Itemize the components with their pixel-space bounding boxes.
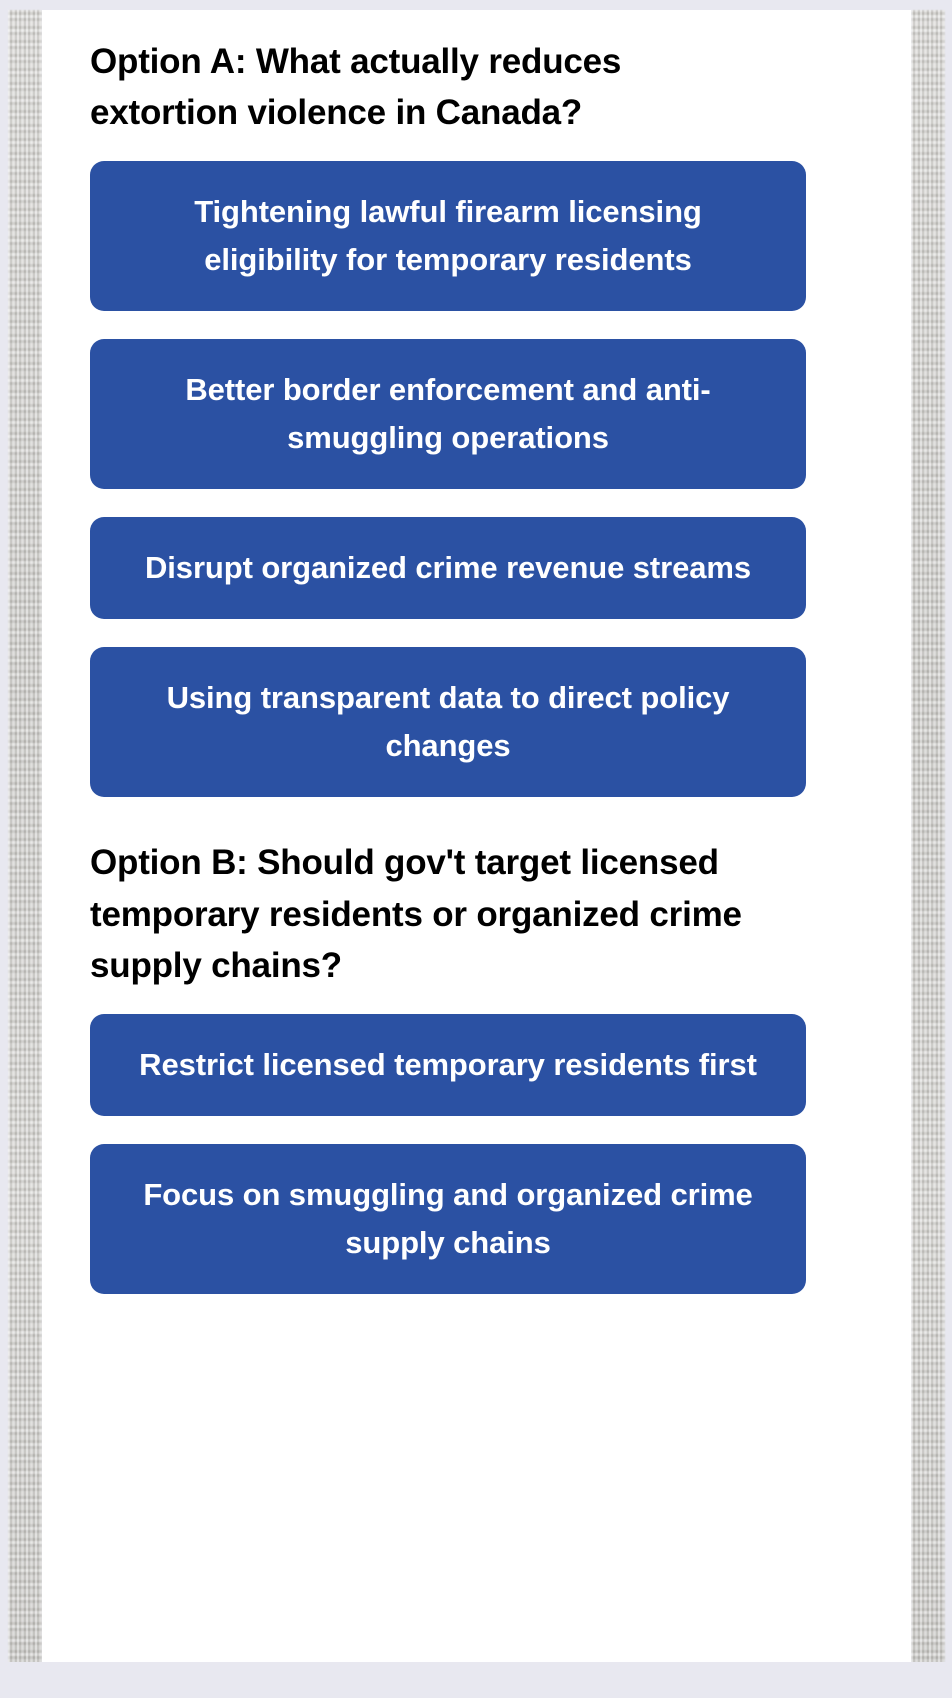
- option-a-choice-3[interactable]: Disrupt organized crime revenue streams: [90, 517, 806, 619]
- question-heading-b: Option B: Should gov't target licensed t…: [90, 837, 750, 991]
- right-texture-rail: [911, 10, 945, 1698]
- screen: Option A: What actually reduces extortio…: [0, 0, 952, 1698]
- left-texture-rail: [8, 10, 42, 1698]
- question-heading-a: Option A: What actually reduces extortio…: [90, 36, 750, 139]
- option-a-choice-1[interactable]: Tightening lawful firearm licensing elig…: [90, 161, 806, 311]
- option-a-choice-4[interactable]: Using transparent data to direct policy …: [90, 647, 806, 797]
- content-sheet: Option A: What actually reduces extortio…: [42, 10, 911, 1662]
- top-band: [0, 0, 952, 10]
- option-b-choice-1[interactable]: Restrict licensed temporary residents fi…: [90, 1014, 806, 1116]
- bottom-band: [0, 1662, 952, 1698]
- option-b-choice-2[interactable]: Focus on smuggling and organized crime s…: [90, 1144, 806, 1294]
- option-a-choice-2[interactable]: Better border enforcement and anti-smugg…: [90, 339, 806, 489]
- poll-container: Option A: What actually reduces extortio…: [42, 10, 911, 1294]
